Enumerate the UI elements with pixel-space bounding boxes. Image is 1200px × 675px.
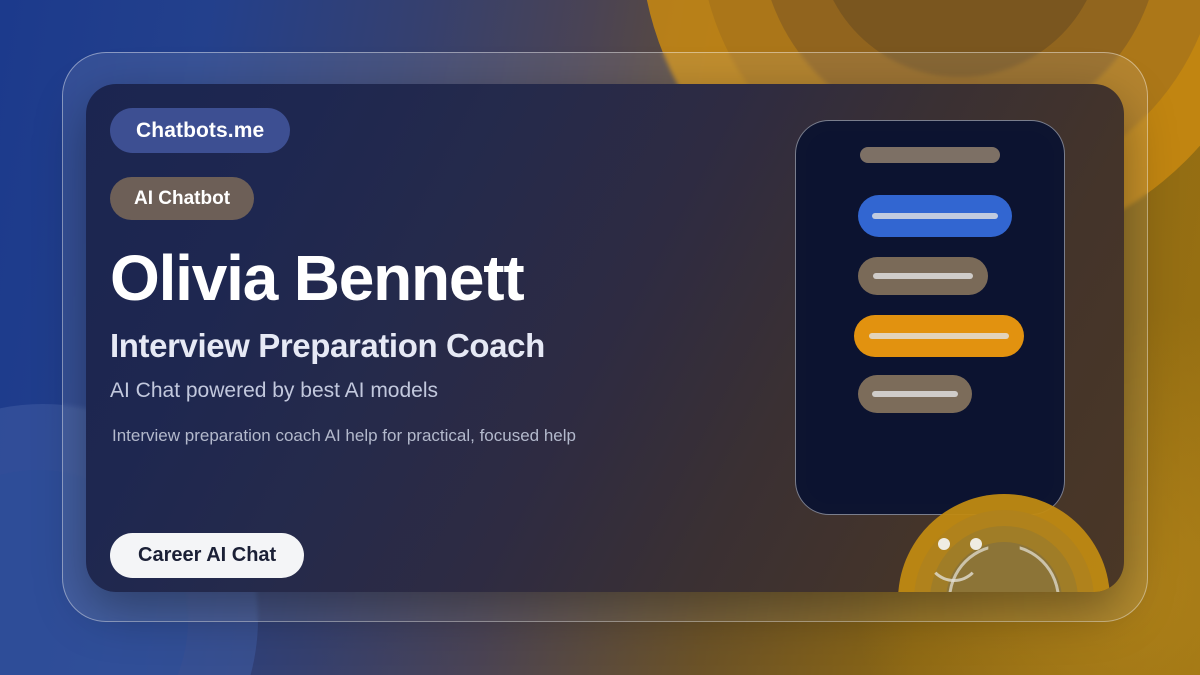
page-title: Olivia Bennett: [110, 246, 524, 310]
hero-tagline: AI Chat powered by best AI models: [110, 380, 438, 401]
phone-mockup: [795, 120, 1065, 515]
smiley-face-icon: [898, 494, 1110, 592]
hero-card: Chatbots.me AI Chatbot Olivia Bennett In…: [86, 84, 1124, 592]
hero-description: Interview preparation coach AI help for …: [112, 427, 576, 444]
brand-badge[interactable]: Chatbots.me: [110, 108, 290, 153]
category-badge[interactable]: AI Chatbot: [110, 177, 254, 220]
chat-bubble-assistant-short: [858, 375, 972, 413]
chat-bubble-text-line: [872, 213, 998, 219]
chat-bubble-text-line: [873, 273, 973, 279]
page-subtitle: Interview Preparation Coach: [110, 329, 545, 362]
chat-bubble-text-line: [869, 333, 1009, 339]
chat-bubble-user: [858, 195, 1012, 237]
career-ai-chat-button[interactable]: Career AI Chat: [110, 533, 304, 578]
phone-screen: [806, 131, 1054, 504]
chat-bubble-highlight: [854, 315, 1024, 357]
hero-content: Chatbots.me AI Chatbot Olivia Bennett In…: [110, 84, 810, 592]
chat-bubble-text-line: [872, 391, 958, 397]
chat-bubble-assistant: [858, 257, 988, 295]
phone-speaker-notch-icon: [860, 147, 1000, 163]
